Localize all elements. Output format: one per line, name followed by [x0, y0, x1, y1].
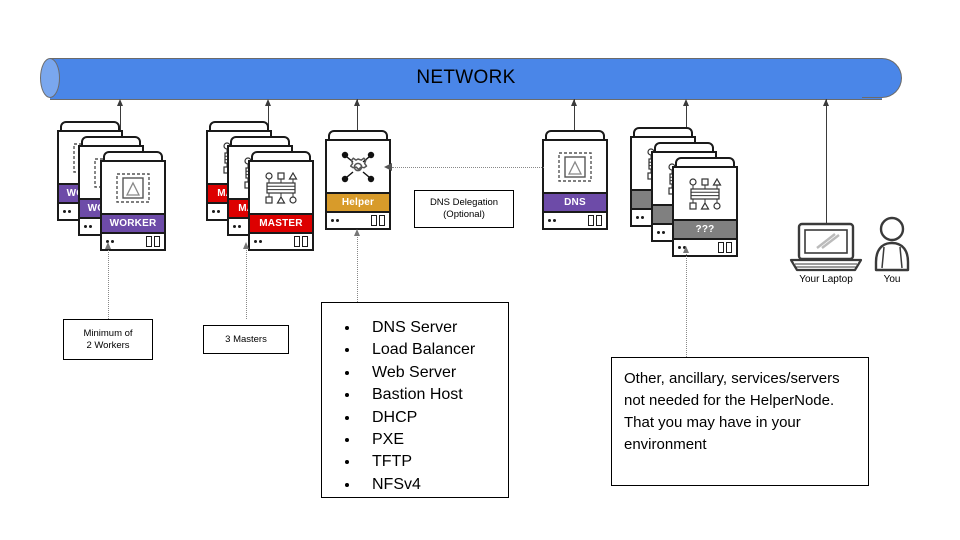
led-dots — [657, 231, 665, 234]
drive-bays — [718, 242, 732, 253]
dns-delegation-connector — [392, 167, 544, 168]
chassis-body: WORKER — [100, 160, 166, 251]
uplink-arrow-helper — [354, 99, 360, 106]
uplink-arrow-workers — [117, 99, 123, 106]
chassis-foot — [544, 213, 606, 228]
helper-node[interactable]: Helper — [325, 130, 391, 230]
dns-delegation-arrowhead — [384, 163, 392, 171]
list-item: TFTP — [360, 451, 498, 473]
chassis-body: DNS — [542, 139, 608, 230]
helper-services-arrowhead — [354, 229, 360, 236]
list-item: Bastion Host — [360, 384, 498, 406]
uplink-arrow-masters — [265, 99, 271, 106]
person-icon — [872, 216, 912, 277]
uplink-arrow-laptop — [823, 99, 829, 106]
ancillary-node-front[interactable]: ??? — [672, 157, 738, 257]
chassis-body: Helper — [325, 139, 391, 230]
master-node-front[interactable]: MASTER — [248, 151, 314, 251]
led-dots — [331, 219, 339, 222]
masters-caption-arrowhead — [243, 242, 249, 249]
chassis-body: ??? — [672, 166, 738, 257]
ancillary-note-connector — [686, 252, 687, 357]
workers-caption-line2: 2 Workers — [83, 340, 132, 352]
led-dots — [548, 219, 556, 222]
chassis-foot — [327, 213, 389, 228]
helper-services-list: DNS Server Load Balancer Web Server Bast… — [332, 317, 498, 496]
drive-bays — [146, 236, 160, 247]
list-item: DNS Server — [360, 317, 498, 339]
network-label: NETWORK — [40, 58, 892, 98]
ancillary-note-arrowhead — [683, 246, 689, 253]
workers-caption-box[interactable]: Minimum of 2 Workers — [63, 319, 153, 360]
uplink-arrow-unknown — [683, 99, 689, 106]
chassis-foot — [102, 234, 164, 249]
image-file-icon — [544, 141, 606, 192]
led-dots — [233, 225, 241, 228]
list-item: DHCP — [360, 407, 498, 429]
workers-caption-arrowhead — [105, 242, 111, 249]
ancillary-node-band: ??? — [674, 219, 736, 240]
gear-icon — [327, 141, 389, 192]
image-file-icon — [102, 162, 164, 213]
helper-services-box[interactable]: DNS Server Load Balancer Web Server Bast… — [321, 302, 509, 498]
dns-node[interactable]: DNS — [542, 130, 608, 230]
ancillary-note-box[interactable]: Other, ancillary, services/servers not n… — [611, 357, 869, 486]
worker-node-front[interactable]: WORKER — [100, 151, 166, 251]
dns-node-band: DNS — [544, 192, 606, 213]
helper-services-connector — [357, 235, 358, 302]
helper-node-band: Helper — [327, 192, 389, 213]
laptop-icon — [786, 222, 866, 279]
masters-caption-line1: 3 Masters — [225, 334, 267, 346]
list-item: Load Balancer — [360, 339, 498, 361]
network-bus: NETWORK — [40, 58, 892, 98]
worker-node-band: WORKER — [102, 213, 164, 234]
led-dots — [84, 225, 92, 228]
cluster-diagram-icon — [250, 162, 312, 213]
drive-bays — [371, 215, 385, 226]
chassis-foot — [250, 234, 312, 249]
master-node-band: MASTER — [250, 213, 312, 234]
dns-delegation-line1: DNS Delegation — [430, 197, 498, 209]
led-dots — [254, 240, 262, 243]
uplink-line-laptop — [826, 99, 827, 224]
dns-delegation-line2: (Optional) — [430, 209, 498, 221]
workers-caption-connector — [108, 248, 109, 319]
diagram-canvas: NETWORK WORKER — [0, 0, 960, 540]
masters-caption-connector — [246, 248, 247, 319]
workers-caption-line1: Minimum of — [83, 328, 132, 340]
uplink-arrow-dns — [571, 99, 577, 106]
masters-caption-box[interactable]: 3 Masters — [203, 325, 289, 354]
drive-bays — [588, 215, 602, 226]
drive-bays — [294, 236, 308, 247]
person-label: You — [862, 274, 922, 285]
laptop-label: Your Laptop — [776, 274, 876, 285]
led-dots — [636, 216, 644, 219]
dns-delegation-box[interactable]: DNS Delegation (Optional) — [414, 190, 514, 228]
chassis-body: MASTER — [248, 160, 314, 251]
list-item: PXE — [360, 429, 498, 451]
cluster-diagram-icon — [674, 168, 736, 219]
list-item: NFSv4 — [360, 474, 498, 496]
led-dots — [212, 210, 220, 213]
led-dots — [63, 210, 71, 213]
list-item: Web Server — [360, 362, 498, 384]
